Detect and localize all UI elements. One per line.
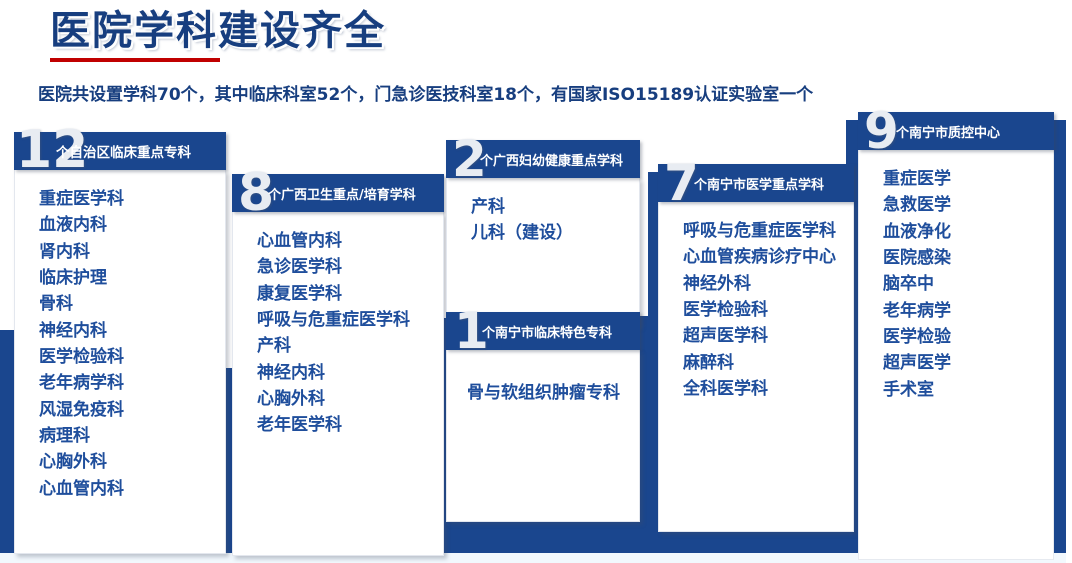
card-nanning-medical-key-disciplines[interactable]: 7 个南宁市医学重点学科 呼吸与危重症医学科 心血管疾病诊疗中心 神经外科 医学… (658, 164, 854, 532)
card-header: 1 个南宁市临床特色专科 (446, 312, 640, 350)
page-title: 医院学科建设齐全 (50, 8, 386, 54)
list-item[interactable]: 老年病学科 (39, 370, 225, 396)
card-header-label: 个南宁市临床特色专科 (482, 322, 612, 341)
list-item[interactable]: 儿科（建设） (471, 220, 639, 246)
list-item[interactable]: 全科医学科 (683, 376, 853, 402)
card-nanning-clinical-featured-specialty[interactable]: 1 个南宁市临床特色专科 骨与软组织肿瘤专科 (446, 312, 640, 522)
list-item[interactable]: 麻醉科 (683, 350, 853, 376)
list-item[interactable]: 超声医学 (883, 350, 1053, 376)
list-item[interactable]: 神经外科 (683, 271, 853, 297)
card-item-list: 呼吸与危重症医学科 心血管疾病诊疗中心 神经外科 医学检验科 超声医学科 麻醉科… (658, 202, 854, 532)
list-item[interactable]: 心血管内科 (257, 228, 443, 254)
list-item[interactable]: 呼吸与危重症医学科 (257, 307, 443, 333)
list-item[interactable]: 医学检验科 (683, 297, 853, 323)
list-item[interactable]: 康复医学科 (257, 281, 443, 307)
list-item[interactable]: 病理科 (39, 423, 225, 449)
list-item[interactable]: 重症医学 (883, 166, 1053, 192)
card-header-label: 个广西妇幼健康重点学科 (480, 150, 623, 169)
list-item[interactable]: 血液内科 (39, 212, 225, 238)
list-item[interactable]: 心血管疾病诊疗中心 (683, 244, 853, 270)
card-header-label: 个广西卫生重点/培育学科 (268, 184, 416, 203)
list-item[interactable]: 老年医学科 (257, 412, 443, 438)
right-margin (1066, 0, 1072, 563)
list-item[interactable]: 临床护理 (39, 265, 225, 291)
card-number: 9 (864, 106, 899, 156)
list-item[interactable]: 风湿免疫科 (39, 397, 225, 423)
card-item-list: 重症医学 急救医学 血液净化 医院感染 脑卒中 老年病学 医学检验 超声医学 手… (858, 150, 1054, 560)
list-item[interactable]: 重症医学科 (39, 186, 225, 212)
card-autonomous-region-key-specialties[interactable]: 12 个自治区临床重点专科 重症医学科 血液内科 肾内科 临床护理 骨科 神经内… (14, 132, 226, 554)
card-header: 9 个南宁市质控中心 (858, 112, 1054, 150)
card-item-list: 产科 儿科（建设） (446, 178, 640, 326)
list-item[interactable]: 产科 (471, 194, 639, 220)
card-header: 8 个广西卫生重点/培育学科 (232, 174, 444, 212)
list-item[interactable]: 骨科 (39, 291, 225, 317)
card-header: 12 个自治区临床重点专科 (14, 132, 226, 170)
list-item[interactable]: 手术室 (883, 377, 1053, 403)
list-item[interactable]: 脑卒中 (883, 271, 1053, 297)
card-item-list: 心血管内科 急诊医学科 康复医学科 呼吸与危重症医学科 产科 神经内科 心胸外科… (232, 212, 444, 556)
list-item[interactable]: 医学检验科 (39, 344, 225, 370)
list-item[interactable]: 肾内科 (39, 239, 225, 265)
list-item[interactable]: 老年病学 (883, 298, 1053, 324)
list-item[interactable]: 急诊医学科 (257, 254, 443, 280)
page-subtitle: 医院共设置学科70个，其中临床科室52个，门急诊医技科室18个，有国家ISO15… (38, 80, 813, 105)
list-item[interactable]: 心血管内科 (39, 476, 225, 502)
list-item[interactable]: 急救医学 (883, 192, 1053, 218)
list-item[interactable]: 心胸外科 (39, 449, 225, 475)
card-header-label: 个南宁市医学重点学科 (694, 174, 824, 193)
list-item[interactable]: 呼吸与危重症医学科 (683, 218, 853, 244)
card-item-list: 重症医学科 血液内科 肾内科 临床护理 骨科 神经内科 医学检验科 老年病学科 … (14, 170, 226, 554)
list-item[interactable]: 心胸外科 (257, 386, 443, 412)
list-item[interactable]: 神经内科 (39, 318, 225, 344)
list-item[interactable]: 超声医学科 (683, 323, 853, 349)
card-guangxi-health-key-disciplines[interactable]: 8 个广西卫生重点/培育学科 心血管内科 急诊医学科 康复医学科 呼吸与危重症医… (232, 174, 444, 556)
title-block: 医院学科建设齐全 (50, 8, 386, 62)
list-item[interactable]: 骨与软组织肿瘤专科 (467, 380, 639, 406)
card-header: 7 个南宁市医学重点学科 (658, 164, 854, 202)
slide-canvas: 医院学科建设齐全 医院共设置学科70个，其中临床科室52个，门急诊医技科室18个… (0, 0, 1072, 563)
card-header-label: 个南宁市质控中心 (896, 122, 1000, 141)
list-item[interactable]: 血液净化 (883, 219, 1053, 245)
card-header-label: 个自治区临床重点专科 (56, 141, 191, 161)
card-header: 2 个广西妇幼健康重点学科 (446, 140, 640, 178)
list-item[interactable]: 医学检验 (883, 324, 1053, 350)
title-underline (50, 58, 220, 62)
list-item[interactable]: 神经内科 (257, 360, 443, 386)
list-item[interactable]: 产科 (257, 333, 443, 359)
card-nanning-quality-control-centers[interactable]: 9 个南宁市质控中心 重症医学 急救医学 血液净化 医院感染 脑卒中 老年病学 … (858, 112, 1054, 560)
list-item[interactable]: 医院感染 (883, 245, 1053, 271)
card-item-list: 骨与软组织肿瘤专科 (446, 350, 640, 522)
card-guangxi-maternal-child-key-disciplines[interactable]: 2 个广西妇幼健康重点学科 产科 儿科（建设） (446, 140, 640, 326)
